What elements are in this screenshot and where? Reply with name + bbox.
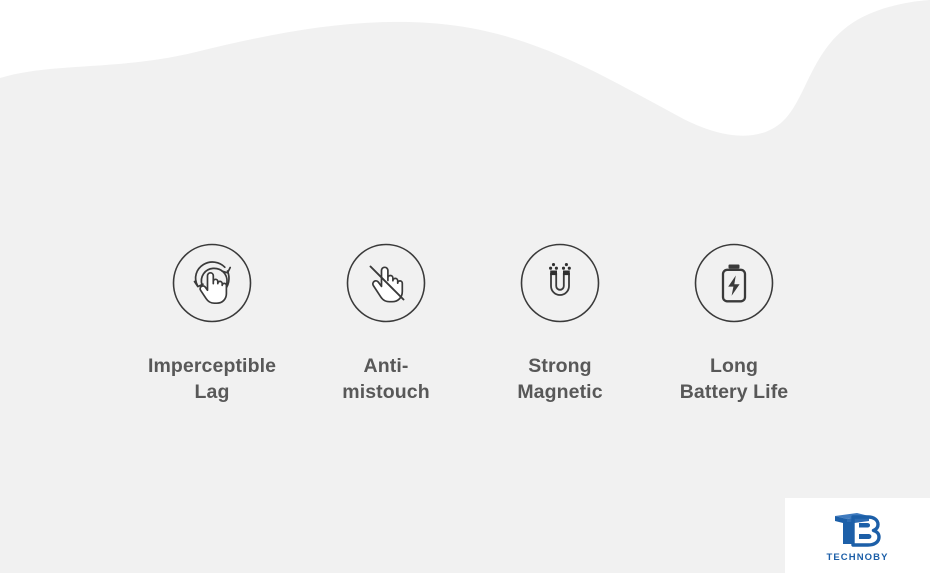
feature-item-strong-magnetic: Strong Magnetic bbox=[473, 243, 647, 405]
feature-list: Imperceptible Lag Anti- mistouch bbox=[0, 243, 930, 405]
feature-item-anti-mistouch: Anti- mistouch bbox=[299, 243, 473, 405]
feature-label: Strong Magnetic bbox=[517, 353, 602, 405]
feature-label: Imperceptible Lag bbox=[148, 353, 276, 405]
feature-label-line1: Strong bbox=[528, 355, 591, 377]
feature-label-line1: Anti- bbox=[364, 355, 409, 377]
feature-label-line2: mistouch bbox=[342, 381, 429, 403]
hand-touch-disabled-icon bbox=[346, 243, 426, 323]
feature-label-line2: Magnetic bbox=[517, 381, 602, 403]
battery-bolt-icon bbox=[694, 243, 774, 323]
feature-label-line1: Imperceptible bbox=[148, 355, 276, 377]
feature-label: Anti- mistouch bbox=[342, 353, 429, 405]
promo-banner: Imperceptible Lag Anti- mistouch bbox=[0, 0, 930, 573]
horseshoe-magnet-icon bbox=[520, 243, 600, 323]
feature-label-line1: Long bbox=[710, 355, 758, 377]
feature-item-long-battery-life: Long Battery Life bbox=[647, 243, 821, 405]
feature-item-imperceptible-lag: Imperceptible Lag bbox=[125, 243, 299, 405]
tb-monogram-logo bbox=[823, 508, 893, 550]
feature-label-line2: Lag bbox=[195, 381, 230, 403]
feature-label-line2: Battery Life bbox=[680, 381, 788, 403]
wave-background-shape bbox=[0, 0, 930, 180]
feature-label: Long Battery Life bbox=[680, 353, 788, 405]
watermark-panel: TECHNOBY bbox=[785, 498, 930, 573]
watermark-brand-name: TECHNOBY bbox=[826, 552, 888, 563]
tap-gesture-fast-icon bbox=[172, 243, 252, 323]
